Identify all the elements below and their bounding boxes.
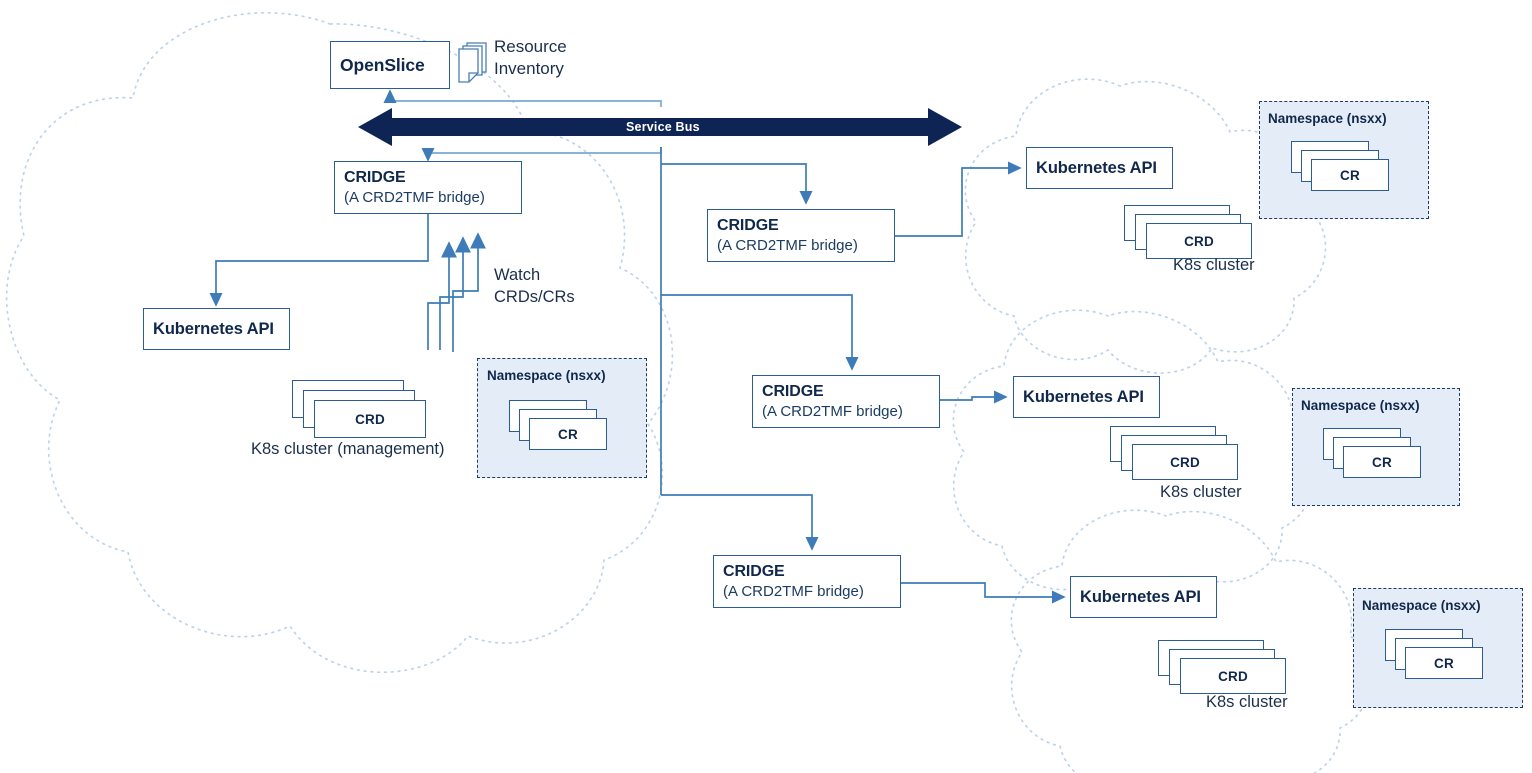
cridge-management-box[interactable]: CRIDGE (A CRD2TMF bridge) — [334, 161, 522, 214]
crd-label-cluster-3: CRD — [1218, 669, 1248, 684]
cridge-cluster-3-subtitle: (A CRD2TMF bridge) — [723, 582, 900, 602]
kubernetes-api-management-box[interactable]: Kubernetes API — [143, 308, 290, 350]
crd-card-front: CRD — [1132, 444, 1238, 480]
edge-cridge-1-to-kapi-1 — [895, 168, 1020, 236]
edge-trunk-to-cridge-2 — [661, 295, 852, 369]
cr-stack-cluster-2: CR — [1323, 428, 1421, 478]
crd-stack-cluster-1: CRD — [1124, 205, 1252, 259]
watch-annotation-label: Watch CRDs/CRs — [494, 264, 614, 308]
document-stack-icon — [455, 40, 489, 84]
caption-cluster-1: K8s cluster — [1173, 256, 1255, 275]
cr-card-front: CR — [1405, 647, 1483, 679]
cridge-cluster-2-subtitle: (A CRD2TMF bridge) — [762, 402, 939, 422]
cridge-cluster-1-title: CRIDGE — [717, 216, 894, 236]
edge-watch-1 — [428, 243, 449, 350]
cr-label-cluster-3: CR — [1434, 656, 1454, 671]
cridge-cluster-3-title: CRIDGE — [723, 562, 900, 582]
resource-inventory-line1: Resource — [494, 37, 567, 56]
cr-stack-cluster-1: CR — [1291, 141, 1389, 191]
cr-card-front: CR — [1343, 446, 1421, 478]
cridge-cluster-2-title: CRIDGE — [762, 382, 939, 402]
kubernetes-api-cluster-2-label: Kubernetes API — [1023, 388, 1159, 407]
architecture-diagram: Service Bus OpenSlice Resource Inventory… — [0, 0, 1532, 773]
edge-trunk-to-cridge-3 — [661, 495, 812, 549]
caption-cluster-management: K8s cluster (management) — [251, 440, 445, 459]
caption-cluster-3: K8s cluster — [1206, 693, 1288, 712]
cr-label-cluster-1: CR — [1340, 168, 1360, 183]
cridge-cluster-3-box[interactable]: CRIDGE (A CRD2TMF bridge) — [713, 555, 901, 608]
namespace-cluster-1-label: Namespace (nsxx) — [1268, 111, 1387, 126]
kubernetes-api-cluster-1-box[interactable]: Kubernetes API — [1026, 147, 1173, 189]
edge-cridge-mgmt-to-kapi — [216, 214, 428, 305]
crd-stack-management: CRD — [292, 380, 426, 438]
service-bus-label: Service Bus — [626, 120, 700, 134]
kubernetes-api-cluster-3-box[interactable]: Kubernetes API — [1070, 576, 1217, 618]
namespace-cluster-2-label: Namespace (nsxx) — [1301, 398, 1420, 413]
namespace-management-label: Namespace (nsxx) — [487, 368, 606, 383]
watch-annotation-line1: Watch — [494, 266, 540, 284]
crd-label-management: CRD — [355, 412, 385, 427]
kubernetes-api-cluster-2-box[interactable]: Kubernetes API — [1013, 376, 1160, 418]
cr-card-front: CR — [529, 418, 607, 450]
crd-label-cluster-1: CRD — [1184, 234, 1214, 249]
cr-card-front: CR — [1311, 159, 1389, 191]
cr-stack-cluster-3: CR — [1385, 629, 1483, 679]
edge-bus-to-cridge-management — [428, 147, 661, 160]
cridge-management-subtitle: (A CRD2TMF bridge) — [344, 188, 521, 208]
cr-stack-management: CR — [509, 400, 607, 450]
edge-trunk-to-cridge-1 — [661, 164, 806, 203]
cridge-management-title: CRIDGE — [344, 168, 521, 188]
cridge-cluster-2-box[interactable]: CRIDGE (A CRD2TMF bridge) — [752, 375, 940, 428]
namespace-cluster-3-label: Namespace (nsxx) — [1362, 598, 1481, 613]
edge-watch-3 — [453, 234, 478, 352]
edge-cridge-3-to-kapi-3 — [901, 583, 1064, 597]
caption-cluster-2: K8s cluster — [1160, 483, 1242, 502]
cr-label-cluster-2: CR — [1372, 455, 1392, 470]
edge-watch-2 — [440, 238, 463, 350]
crd-stack-cluster-3: CRD — [1158, 640, 1286, 694]
cridge-cluster-1-box[interactable]: CRIDGE (A CRD2TMF bridge) — [707, 209, 895, 262]
kubernetes-api-cluster-3-label: Kubernetes API — [1080, 588, 1216, 607]
cridge-cluster-1-subtitle: (A CRD2TMF bridge) — [717, 236, 894, 256]
edge-cridge-2-to-kapi-2 — [940, 397, 1006, 400]
resource-inventory-label: Resource Inventory — [494, 36, 567, 80]
crd-label-cluster-2: CRD — [1170, 455, 1200, 470]
openslice-label: OpenSlice — [340, 55, 449, 76]
cr-label-management: CR — [558, 427, 578, 442]
edge-bus-to-openslice — [390, 91, 661, 107]
crd-card-front: CRD — [1146, 223, 1252, 259]
watch-annotation-line2: CRDs/CRs — [494, 288, 575, 306]
crd-card-front: CRD — [314, 400, 426, 438]
kubernetes-api-management-label: Kubernetes API — [153, 320, 289, 339]
kubernetes-api-cluster-1-label: Kubernetes API — [1036, 159, 1172, 178]
resource-inventory-line2: Inventory — [494, 59, 564, 78]
openslice-box[interactable]: OpenSlice — [330, 41, 450, 89]
crd-stack-cluster-2: CRD — [1110, 426, 1238, 480]
crd-card-front: CRD — [1180, 658, 1286, 694]
